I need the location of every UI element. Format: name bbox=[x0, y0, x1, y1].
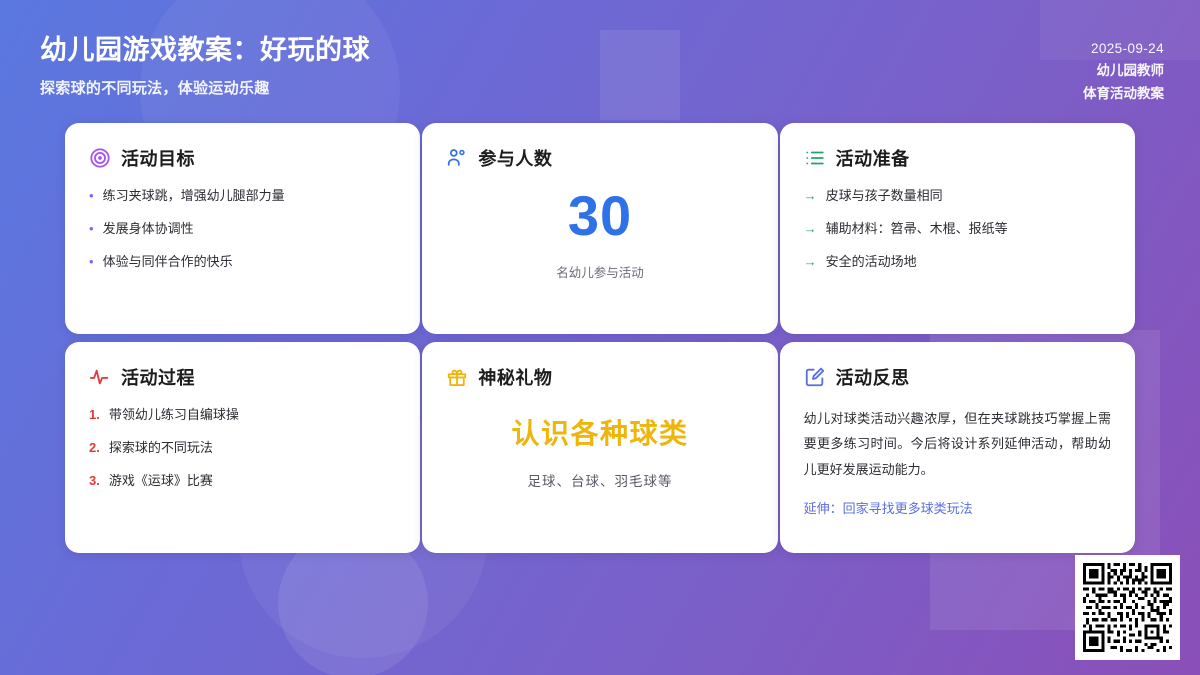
list-item: 3.游戏《运球》比赛 bbox=[89, 472, 396, 491]
card-header: 活动反思 bbox=[804, 364, 1111, 390]
card-title: 活动目标 bbox=[121, 145, 195, 171]
card-reflection: 活动反思 幼儿对球类活动兴趣浓厚，但在夹球跳技巧掌握上需要更多练习时间。今后将设… bbox=[780, 342, 1135, 553]
list-item-text: 皮球与孩子数量相同 bbox=[826, 187, 943, 206]
card-preparation: 活动准备 →皮球与孩子数量相同 →辅助材料：笤帚、木棍、报纸等 →安全的活动场地 bbox=[780, 123, 1135, 334]
list-item: •体验与同伴合作的快乐 bbox=[89, 253, 396, 272]
list-number: 2. bbox=[89, 439, 100, 458]
list-item: 1.带领幼儿练习自编球操 bbox=[89, 406, 396, 425]
list-item-text: 游戏《运球》比赛 bbox=[109, 472, 213, 491]
list-item-text: 探索球的不同玩法 bbox=[109, 439, 213, 458]
list-item: →皮球与孩子数量相同 bbox=[804, 187, 1111, 206]
reflection-link[interactable]: 延伸：回家寻找更多球类玩法 bbox=[804, 498, 1111, 517]
gift-headline: 认识各种球类 bbox=[446, 412, 753, 452]
qr-code-image bbox=[1083, 563, 1172, 652]
page-title: 幼儿园游戏教案：好玩的球 bbox=[40, 34, 1164, 66]
bullet-dot-icon: • bbox=[89, 187, 94, 206]
header-category: 体育活动教案 bbox=[1083, 83, 1164, 105]
card-title: 活动反思 bbox=[836, 364, 910, 390]
card-title: 活动准备 bbox=[836, 145, 910, 171]
list-item-text: 练习夹球跳，增强幼儿腿部力量 bbox=[103, 187, 285, 206]
card-participants: 参与人数 30 名幼儿参与活动 bbox=[422, 123, 777, 334]
participants-caption: 名幼儿参与活动 bbox=[446, 262, 753, 281]
header-date: 2025-09-24 bbox=[1083, 38, 1164, 60]
list-item-text: 辅助材料：笤帚、木棍、报纸等 bbox=[826, 220, 1008, 239]
participants-count: 30 bbox=[446, 187, 753, 246]
goals-list: •练习夹球跳，增强幼儿腿部力量 •发展身体协调性 •体验与同伴合作的快乐 bbox=[89, 187, 396, 272]
edit-square-icon bbox=[804, 366, 826, 388]
list-item-text: 发展身体协调性 bbox=[103, 220, 194, 239]
card-header: 活动过程 bbox=[89, 364, 396, 390]
header-author: 幼儿园教师 bbox=[1083, 60, 1164, 82]
card-title: 活动过程 bbox=[121, 364, 195, 390]
card-activity-goals: 活动目标 •练习夹球跳，增强幼儿腿部力量 •发展身体协调性 •体验与同伴合作的快… bbox=[65, 123, 420, 334]
participants-stat: 30 名幼儿参与活动 bbox=[446, 187, 753, 281]
list-item: •发展身体协调性 bbox=[89, 220, 396, 239]
gift-content: 认识各种球类 足球、台球、羽毛球等 bbox=[446, 412, 753, 490]
list-item-text: 带领幼儿练习自编球操 bbox=[109, 406, 239, 425]
header-meta: 2025-09-24 幼儿园教师 体育活动教案 bbox=[1083, 38, 1164, 105]
process-list: 1.带领幼儿练习自编球操 2.探索球的不同玩法 3.游戏《运球》比赛 bbox=[89, 406, 396, 491]
card-header: 活动目标 bbox=[89, 145, 396, 171]
card-grid: 活动目标 •练习夹球跳，增强幼儿腿部力量 •发展身体协调性 •体验与同伴合作的快… bbox=[65, 123, 1135, 553]
card-header: 神秘礼物 bbox=[446, 364, 753, 390]
bullet-dot-icon: • bbox=[89, 253, 94, 272]
activity-pulse-icon bbox=[89, 366, 111, 388]
card-mystery-gift: 神秘礼物 认识各种球类 足球、台球、羽毛球等 bbox=[422, 342, 777, 553]
gift-icon bbox=[446, 366, 468, 388]
target-icon bbox=[89, 147, 111, 169]
list-item: →安全的活动场地 bbox=[804, 253, 1111, 272]
arrow-right-icon: → bbox=[804, 187, 817, 206]
card-header: 活动准备 bbox=[804, 145, 1111, 171]
card-title: 神秘礼物 bbox=[478, 364, 552, 390]
users-icon bbox=[446, 147, 468, 169]
gift-subtext: 足球、台球、羽毛球等 bbox=[446, 470, 753, 490]
list-item: •练习夹球跳，增强幼儿腿部力量 bbox=[89, 187, 396, 206]
bullet-dot-icon: • bbox=[89, 220, 94, 239]
qr-code[interactable] bbox=[1075, 555, 1180, 660]
list-number: 1. bbox=[89, 406, 100, 425]
arrow-right-icon: → bbox=[804, 220, 817, 239]
list-icon bbox=[804, 147, 826, 169]
card-activity-process: 活动过程 1.带领幼儿练习自编球操 2.探索球的不同玩法 3.游戏《运球》比赛 bbox=[65, 342, 420, 553]
list-item-text: 安全的活动场地 bbox=[826, 253, 917, 272]
card-title: 参与人数 bbox=[478, 145, 552, 171]
arrow-right-icon: → bbox=[804, 253, 817, 272]
list-item: →辅助材料：笤帚、木棍、报纸等 bbox=[804, 220, 1111, 239]
reflection-body: 幼儿对球类活动兴趣浓厚，但在夹球跳技巧掌握上需要更多练习时间。今后将设计系列延伸… bbox=[804, 406, 1111, 482]
list-number: 3. bbox=[89, 472, 100, 491]
slide-canvas: 幼儿园游戏教案：好玩的球 探索球的不同玩法，体验运动乐趣 2025-09-24 … bbox=[0, 0, 1200, 675]
slide-header: 幼儿园游戏教案：好玩的球 探索球的不同玩法，体验运动乐趣 2025-09-24 … bbox=[0, 0, 1200, 123]
page-subtitle: 探索球的不同玩法，体验运动乐趣 bbox=[40, 77, 1164, 98]
preparation-list: →皮球与孩子数量相同 →辅助材料：笤帚、木棍、报纸等 →安全的活动场地 bbox=[804, 187, 1111, 272]
card-header: 参与人数 bbox=[446, 145, 753, 171]
list-item: 2.探索球的不同玩法 bbox=[89, 439, 396, 458]
list-item-text: 体验与同伴合作的快乐 bbox=[103, 253, 233, 272]
